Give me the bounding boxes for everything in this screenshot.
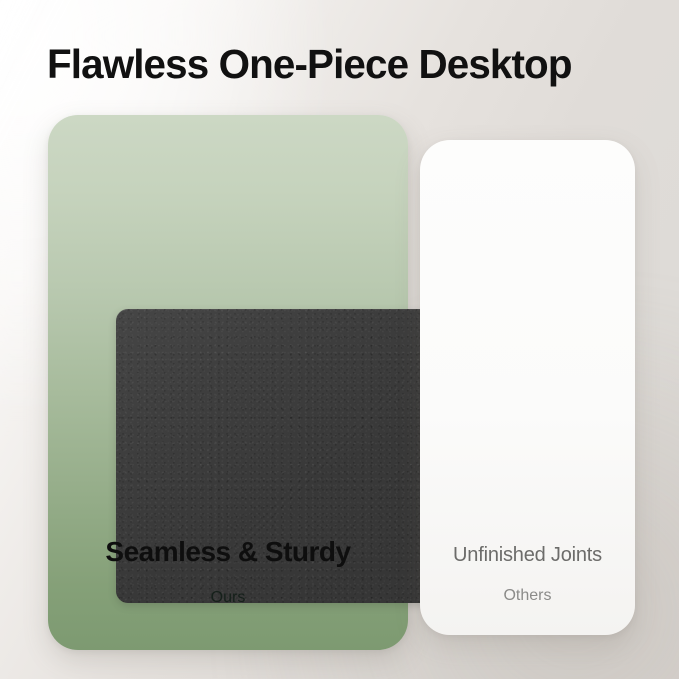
caption-headline-others: Unfinished Joints: [420, 542, 635, 568]
caption-others: Unfinished Joints Others: [420, 542, 635, 607]
page-title: Flawless One-Piece Desktop: [47, 40, 572, 88]
caption-sublabel-ours: Ours: [48, 587, 408, 609]
caption-ours: Seamless & Sturdy Ours: [48, 535, 408, 609]
comparison-infographic: Flawless One-Piece Desktop Seamless & St…: [0, 0, 679, 679]
caption-sublabel-others: Others: [420, 585, 635, 607]
caption-headline-ours: Seamless & Sturdy: [48, 535, 408, 569]
